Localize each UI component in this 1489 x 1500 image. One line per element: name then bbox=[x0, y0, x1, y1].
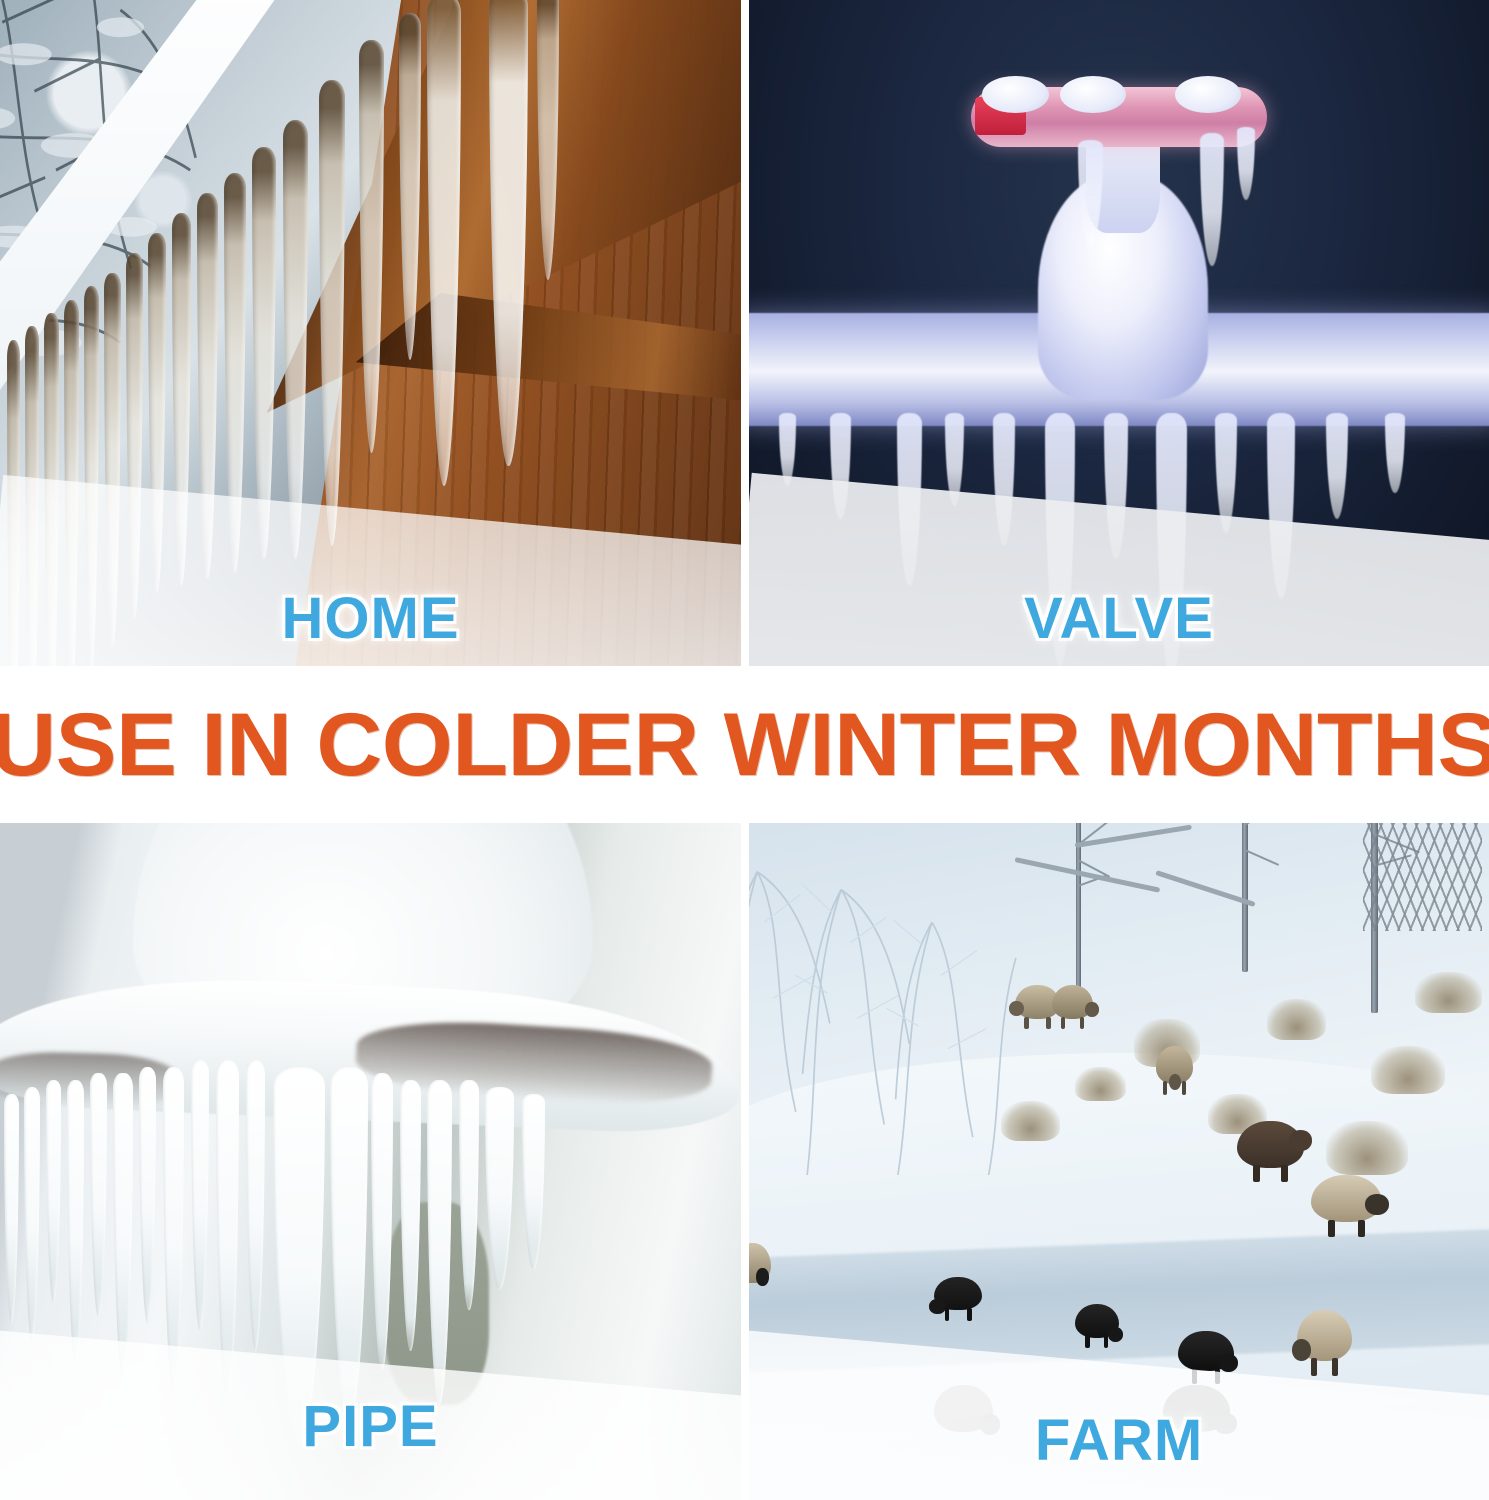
sheep-mid bbox=[1156, 1046, 1193, 1083]
headline-text: USE IN COLDER WINTER MONTHS bbox=[0, 700, 1489, 790]
gutter-vertical-bottom bbox=[741, 823, 749, 1500]
sheep-wool-right bbox=[1297, 1310, 1353, 1361]
sheep-upper-right bbox=[1052, 985, 1093, 1019]
sheep-brown-large bbox=[1237, 1121, 1304, 1168]
headline-band: USE IN COLDER WINTER MONTHS bbox=[0, 666, 1489, 823]
panel-caption-pipe: PIPE bbox=[0, 1393, 741, 1460]
panel-caption-valve: VALVE bbox=[749, 585, 1489, 652]
valve-handle-knob-left bbox=[982, 76, 1049, 113]
panel-caption-home: HOME bbox=[0, 585, 741, 652]
wooden-fence-icon bbox=[1363, 823, 1481, 931]
panel-home[interactable]: HOME bbox=[0, 0, 741, 666]
bare-tree-1 bbox=[1045, 823, 1112, 999]
panel-farm[interactable]: FARM bbox=[749, 823, 1489, 1500]
product-feature-collage: HOME bbox=[0, 0, 1489, 1500]
valve-photo bbox=[749, 0, 1489, 666]
gutter-vertical-top bbox=[741, 0, 749, 666]
sheep-wool-large bbox=[1311, 1175, 1381, 1222]
home-photo bbox=[0, 0, 741, 666]
sheep-black-right bbox=[1178, 1331, 1234, 1372]
panel-caption-farm: FARM bbox=[749, 1407, 1489, 1474]
panel-pipe[interactable]: PIPE bbox=[0, 823, 741, 1500]
valve-handle-knob-right bbox=[1175, 76, 1242, 113]
sheep-black-center bbox=[1075, 1304, 1119, 1338]
sheep-black-left bbox=[934, 1277, 982, 1311]
sheep-edge-left bbox=[749, 1243, 771, 1284]
panel-valve[interactable]: VALVE bbox=[749, 0, 1489, 666]
farm-photo bbox=[749, 823, 1489, 1500]
bare-tree-2 bbox=[1208, 823, 1282, 972]
